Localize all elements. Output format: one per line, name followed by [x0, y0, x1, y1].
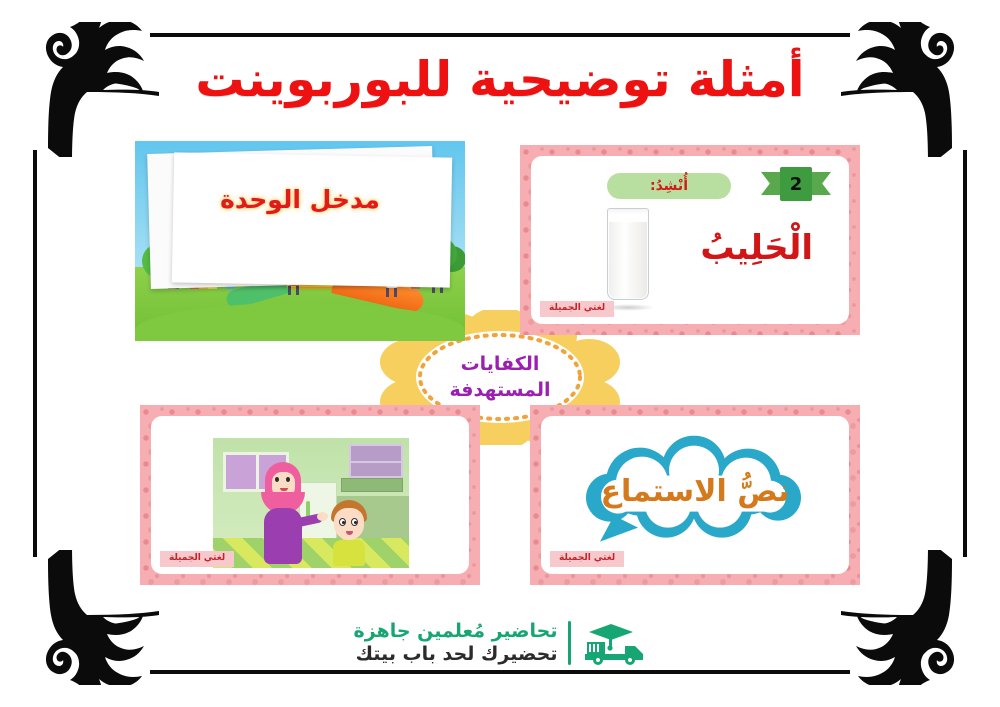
frame-right-line — [963, 150, 967, 557]
card-milk-song[interactable]: أُنْشِدُ: 2 الْحَلِيبُ لغتي الجميلة — [520, 145, 860, 335]
kitchen-floor — [213, 538, 409, 568]
milk-word: الْحَلِيبُ — [700, 228, 813, 268]
anshid-pill-label: أُنْشِدُ: — [607, 173, 731, 199]
card-listening-text-body: نصُّ الاستماع لغتي الجميلة — [541, 416, 849, 574]
footer-tag: لغتي الجميلة — [540, 301, 614, 317]
frame-left-line — [33, 150, 37, 557]
listening-text-label: نصُّ الاستماع — [541, 416, 849, 574]
lesson-number-ribbon: 2 — [761, 167, 831, 201]
paper-sheet-front — [172, 152, 452, 287]
kitchen-illustration — [213, 438, 409, 568]
card-listening-text[interactable]: نصُّ الاستماع لغتي الجميلة — [530, 405, 860, 585]
card-kitchen-scene[interactable]: لغتي الجميلة — [140, 405, 480, 585]
truck-graduation-cap-icon — [581, 620, 647, 666]
milk-glass-icon — [601, 208, 655, 308]
lesson-number: 2 — [780, 167, 812, 201]
playground-illustration: مدخل الوحدة — [135, 141, 465, 341]
card-unit-intro-heading: مدخل الوحدة — [135, 185, 465, 214]
brand-logo: تحاضير مُعلمين جاهزة تحضيرك لحد باب بيتك — [0, 620, 1000, 668]
card-kitchen-scene-body: لغتي الجميلة — [151, 416, 469, 574]
kitchen-cabinet — [349, 444, 403, 478]
kitchen-stove — [341, 478, 403, 492]
brand-text: تحاضير مُعلمين جاهزة تحضيرك لحد باب بيتك — [354, 620, 558, 668]
brand-line1: تحاضير مُعلمين جاهزة — [354, 620, 558, 644]
poster-page: أمثلة توضيحية للبوربوينت الكفايات المسته… — [0, 0, 1000, 707]
boy-figure — [327, 500, 371, 566]
frame-bottom-line — [150, 670, 850, 674]
brand-line2: تحضيرك لحد باب بيتك — [354, 643, 558, 667]
card-unit-intro[interactable]: مدخل الوحدة — [135, 141, 465, 341]
footer-tag: لغتي الجميلة — [160, 551, 234, 567]
page-title: أمثلة توضيحية للبوربوينت — [0, 52, 1000, 108]
card-milk-song-body: أُنْشِدُ: 2 الْحَلِيبُ لغتي الجميلة — [531, 156, 849, 324]
mother-figure — [255, 462, 311, 566]
footer-tag: لغتي الجميلة — [550, 551, 624, 567]
frame-top-line — [150, 33, 850, 37]
logo-divider — [568, 621, 571, 665]
